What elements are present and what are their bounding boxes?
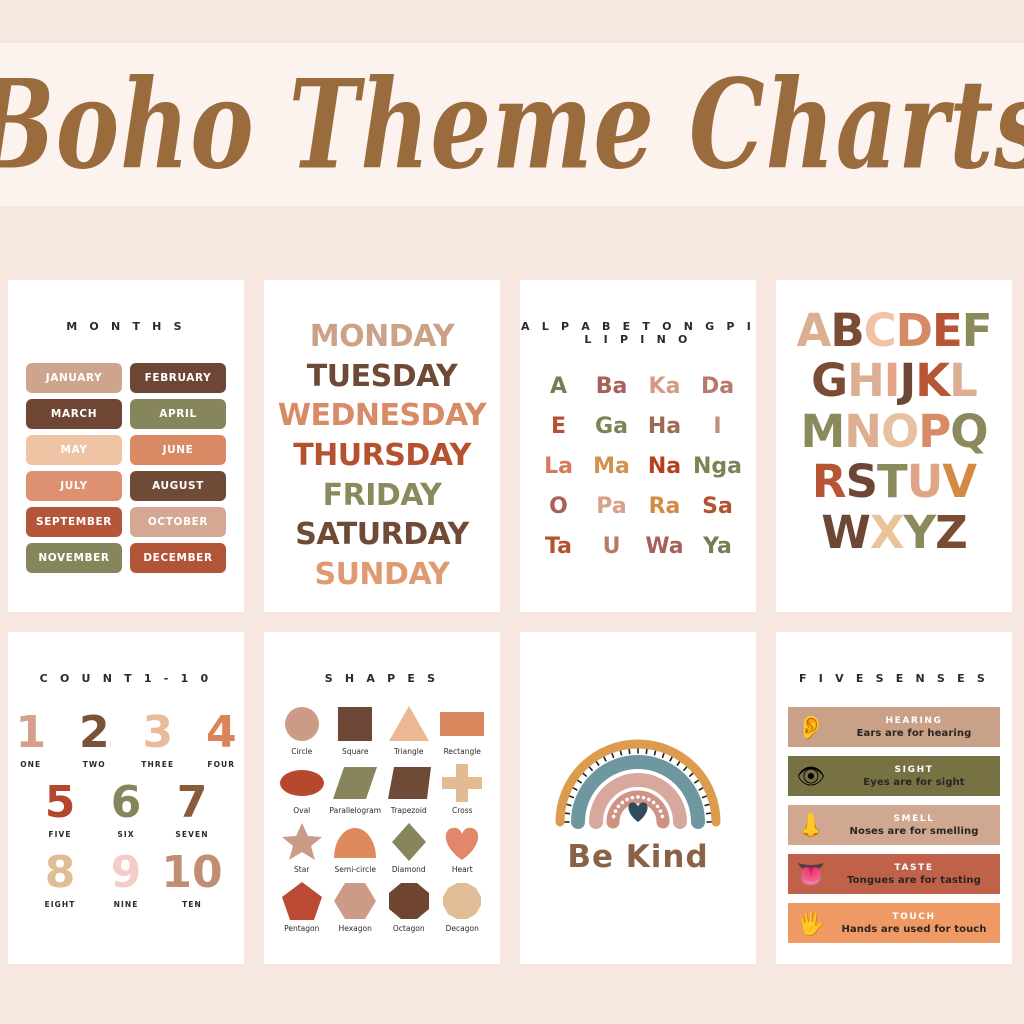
card-days-of-week[interactable]: MONDAYTUESDAYWEDNESDAYTHURSDAYFRIDAYSATU… bbox=[264, 280, 500, 612]
months-list: JANUARYFEBRUARYMARCHAPRILMAYJUNEJULYAUGU… bbox=[26, 363, 226, 573]
sense-description: Hands are used for touch bbox=[841, 924, 986, 935]
shape-item: Semi-circle bbox=[329, 821, 381, 874]
rainbow-svg bbox=[550, 722, 726, 832]
shape-label: Rectangle bbox=[444, 747, 481, 756]
alphabet-letter: G bbox=[811, 356, 847, 406]
hexagon-icon bbox=[331, 880, 379, 922]
sense-texts: SMELLNoses are for smelling bbox=[834, 814, 1000, 837]
charts-grid: M O N T H S JANUARYFEBRUARYMARCHAPRILMAY… bbox=[8, 280, 1016, 964]
ear-icon: 👂 bbox=[788, 716, 834, 739]
cross-icon bbox=[438, 762, 486, 804]
alphabet-rows: ABCDEFGHIJKLMNOPQRSTUVWXYZ bbox=[776, 306, 1012, 558]
circle-icon bbox=[278, 703, 326, 745]
card-alpabetong-pilipino[interactable]: A L P A B E T O N G P I L I P I N O ABaK… bbox=[520, 280, 756, 612]
card-months[interactable]: M O N T H S JANUARYFEBRUARYMARCHAPRILMAY… bbox=[8, 280, 244, 612]
sense-title: TASTE bbox=[894, 863, 933, 873]
count-word: FIVE bbox=[48, 830, 71, 839]
shapes-grid: CircleSquareTriangleRectangleOvalParalle… bbox=[275, 703, 489, 933]
alphabet-row: ABCDEF bbox=[796, 306, 991, 356]
count-item: 7SEVEN bbox=[168, 781, 216, 839]
pilipino-letter: Na bbox=[648, 454, 681, 479]
shape-label: Trapezoid bbox=[391, 806, 427, 815]
pilipino-letter: Nga bbox=[693, 454, 742, 479]
sense-texts: TASTETongues are for tasting bbox=[834, 863, 1000, 886]
rainbow-icon bbox=[550, 722, 726, 837]
alphabet-letter: E bbox=[932, 306, 962, 356]
be-kind-content: Be Kind bbox=[520, 632, 756, 964]
senses-card-title: F I V E S E N S E S bbox=[776, 672, 1012, 685]
page-title: Boho Theme Charts bbox=[0, 52, 1024, 197]
months-card-title: M O N T H S bbox=[8, 320, 244, 333]
month-pill[interactable]: MAY bbox=[26, 435, 122, 465]
sense-title: SIGHT bbox=[895, 765, 934, 775]
shape-item: Pentagon bbox=[276, 880, 328, 933]
alphabet-letter: N bbox=[844, 407, 881, 457]
count-word: NINE bbox=[114, 900, 139, 909]
pilipino-letter: Da bbox=[701, 374, 734, 399]
count-item: 10TEN bbox=[168, 851, 216, 909]
pilipino-letter: Ba bbox=[596, 374, 628, 399]
shape-label: Diamond bbox=[392, 865, 426, 874]
alphabet-letter: A bbox=[796, 306, 830, 356]
count-item: 9NINE bbox=[102, 851, 150, 909]
pilipino-letter: A bbox=[550, 374, 567, 399]
pilipino-card-title: A L P A B E T O N G P I L I P I N O bbox=[520, 320, 756, 346]
shape-label: Triangle bbox=[394, 747, 423, 756]
count-item: 6SIX bbox=[102, 781, 150, 839]
pilipino-letter: Wa bbox=[645, 534, 683, 559]
count-rows: 1ONE2TWO3THREE4FOUR5FIVE6SIX7SEVEN8EIGHT… bbox=[8, 711, 244, 909]
nose-icon: 👃 bbox=[788, 814, 834, 837]
alphabet-letter: W bbox=[821, 508, 870, 558]
shape-item: Star bbox=[276, 821, 328, 874]
pilipino-letter: E bbox=[551, 414, 566, 439]
card-five-senses[interactable]: F I V E S E N S E S 👂HEARINGEars are for… bbox=[776, 632, 1012, 964]
alphabet-letter: Y bbox=[904, 508, 936, 558]
tongue-icon: 👅 bbox=[788, 863, 834, 886]
pilipino-letter: Ta bbox=[545, 534, 572, 559]
count-numeral: 10 bbox=[161, 851, 222, 895]
senses-list: 👂HEARINGEars are for hearing👁SIGHTEyes a… bbox=[788, 707, 1000, 943]
shape-label: Heart bbox=[452, 865, 473, 874]
shape-item: Cross bbox=[436, 762, 488, 815]
month-pill[interactable]: JANUARY bbox=[26, 363, 122, 393]
shape-item: Oval bbox=[276, 762, 328, 815]
sense-band[interactable]: 🖐TOUCHHands are used for touch bbox=[788, 903, 1000, 943]
pilipino-letter: Ha bbox=[648, 414, 681, 439]
alphabet-letter: Z bbox=[935, 508, 967, 558]
sense-band[interactable]: 👅TASTETongues are for tasting bbox=[788, 854, 1000, 894]
sense-description: Ears are for hearing bbox=[857, 728, 972, 739]
alphabet-letter: L bbox=[949, 356, 977, 406]
month-pill[interactable]: JUNE bbox=[130, 435, 226, 465]
card-shapes[interactable]: S H A P E S CircleSquareTriangleRectangl… bbox=[264, 632, 500, 964]
month-pill[interactable]: NOVEMBER bbox=[26, 543, 122, 573]
shape-item: Heart bbox=[436, 821, 488, 874]
sense-texts: TOUCHHands are used for touch bbox=[834, 912, 1000, 935]
pilipino-letter: U bbox=[603, 534, 621, 559]
count-word: THREE bbox=[141, 760, 174, 769]
count-row: 8EIGHT9NINE10TEN bbox=[8, 851, 244, 909]
month-pill[interactable]: AUGUST bbox=[130, 471, 226, 501]
pilipino-letter: Sa bbox=[702, 494, 733, 519]
pilipino-letter: Ka bbox=[649, 374, 681, 399]
shape-label: Square bbox=[342, 747, 368, 756]
sense-description: Tongues are for tasting bbox=[847, 875, 981, 886]
shape-item: Decagon bbox=[436, 880, 488, 933]
day-label: MONDAY bbox=[310, 318, 454, 357]
month-pill[interactable]: FEBRUARY bbox=[130, 363, 226, 393]
count-numeral: 4 bbox=[206, 711, 237, 755]
shape-item: Parallelogram bbox=[329, 762, 381, 815]
shape-label: Circle bbox=[291, 747, 312, 756]
shape-label: Pentagon bbox=[284, 924, 319, 933]
triangle-icon bbox=[385, 703, 433, 745]
be-kind-text: Be Kind bbox=[567, 839, 708, 875]
alphabet-letter: U bbox=[907, 457, 943, 507]
day-label: SATURDAY bbox=[295, 516, 468, 555]
count-item: 5FIVE bbox=[36, 781, 84, 839]
alphabet-letter: H bbox=[847, 356, 884, 406]
alphabet-letter: O bbox=[881, 407, 918, 457]
alphabet-row: MNOPQ bbox=[801, 407, 988, 457]
oval-icon bbox=[278, 762, 326, 804]
month-pill[interactable]: APRIL bbox=[130, 399, 226, 429]
title-band: Boho Theme Charts bbox=[0, 43, 1024, 206]
sense-texts: SIGHTEyes are for sight bbox=[834, 765, 1000, 788]
pilipino-letter: Pa bbox=[596, 494, 626, 519]
count-word: SIX bbox=[117, 830, 134, 839]
count-item: 1ONE bbox=[8, 711, 54, 769]
alphabet-letter: V bbox=[942, 457, 976, 507]
count-word: TEN bbox=[182, 900, 202, 909]
alphabet-letter: C bbox=[864, 306, 896, 356]
sense-texts: HEARINGEars are for hearing bbox=[834, 716, 1000, 739]
alphabet-letter: K bbox=[915, 356, 949, 406]
card-be-kind[interactable]: Be Kind bbox=[520, 632, 756, 964]
shape-label: Semi-circle bbox=[335, 865, 376, 874]
shape-item: Trapezoid bbox=[383, 762, 435, 815]
count-numeral: 5 bbox=[45, 781, 76, 825]
sense-band[interactable]: 👂HEARINGEars are for hearing bbox=[788, 707, 1000, 747]
decagon-icon bbox=[438, 880, 486, 922]
sense-description: Eyes are for sight bbox=[863, 777, 964, 788]
month-pill[interactable]: OCTOBER bbox=[130, 507, 226, 537]
alphabet-row: WXYZ bbox=[821, 508, 967, 558]
shape-label: Hexagon bbox=[339, 924, 372, 933]
count-numeral: 3 bbox=[142, 711, 173, 755]
semicircle-icon bbox=[331, 821, 379, 863]
alphabet-letter: P bbox=[918, 407, 950, 457]
shape-item: Diamond bbox=[383, 821, 435, 874]
pilipino-letter: I bbox=[713, 414, 721, 439]
shape-item: Circle bbox=[276, 703, 328, 756]
hand-icon: 🖐 bbox=[788, 912, 834, 935]
card-count[interactable]: C O U N T 1 - 1 0 1ONE2TWO3THREE4FOUR5FI… bbox=[8, 632, 244, 964]
star-icon bbox=[278, 821, 326, 863]
shape-item: Square bbox=[329, 703, 381, 756]
shape-label: Star bbox=[294, 865, 309, 874]
shape-item: Hexagon bbox=[329, 880, 381, 933]
heart-icon bbox=[438, 821, 486, 863]
parallelogram-icon bbox=[331, 762, 379, 804]
count-item: 8EIGHT bbox=[36, 851, 84, 909]
alphabet-letter: D bbox=[896, 306, 932, 356]
shape-label: Oval bbox=[293, 806, 310, 815]
count-item: 4FOUR bbox=[199, 711, 245, 769]
count-word: TWO bbox=[83, 760, 106, 769]
sense-title: HEARING bbox=[885, 716, 942, 726]
alphabet-letter: Q bbox=[950, 407, 987, 457]
rectangle-icon bbox=[438, 703, 486, 745]
square-icon bbox=[331, 703, 379, 745]
alphabet-letter: B bbox=[830, 306, 863, 356]
count-numeral: 8 bbox=[45, 851, 76, 895]
alphabet-letter: R bbox=[812, 457, 846, 507]
pilipino-letter-grid: ABaKaDaEGaHaILaMaNaNgaOPaRaSaTaUWaYa bbox=[532, 374, 744, 559]
pilipino-letter: La bbox=[544, 454, 573, 479]
eye-icon: 👁 bbox=[788, 765, 834, 788]
alphabet-letter: I bbox=[884, 356, 900, 406]
month-pill[interactable]: DECEMBER bbox=[130, 543, 226, 573]
count-word: SEVEN bbox=[175, 830, 208, 839]
trapezoid-icon bbox=[385, 762, 433, 804]
day-label: WEDNESDAY bbox=[278, 397, 486, 436]
sense-band[interactable]: 👁SIGHTEyes are for sight bbox=[788, 756, 1000, 796]
month-pill[interactable]: MARCH bbox=[26, 399, 122, 429]
alphabet-letter: X bbox=[870, 508, 904, 558]
card-alphabet[interactable]: ABCDEFGHIJKLMNOPQRSTUVWXYZ bbox=[776, 280, 1012, 612]
alphabet-letter: J bbox=[900, 356, 916, 406]
count-item: 2TWO bbox=[72, 711, 118, 769]
pentagon-icon bbox=[278, 880, 326, 922]
alphabet-letter: F bbox=[962, 306, 992, 356]
days-list: MONDAYTUESDAYWEDNESDAYTHURSDAYFRIDAYSATU… bbox=[264, 318, 500, 595]
shape-label: Octagon bbox=[393, 924, 425, 933]
pilipino-letter: Ya bbox=[703, 534, 732, 559]
shape-label: Parallelogram bbox=[329, 806, 381, 815]
shape-item: Triangle bbox=[383, 703, 435, 756]
count-word: EIGHT bbox=[45, 900, 76, 909]
alphabet-letter: S bbox=[846, 457, 877, 507]
count-word: FOUR bbox=[207, 760, 235, 769]
day-label: TUESDAY bbox=[307, 358, 457, 397]
alphabet-letter: M bbox=[801, 407, 845, 457]
count-numeral: 2 bbox=[79, 711, 110, 755]
count-numeral: 9 bbox=[111, 851, 142, 895]
pilipino-letter: Ra bbox=[649, 494, 681, 519]
sense-title: TOUCH bbox=[892, 912, 935, 922]
pilipino-letter: Ma bbox=[593, 454, 630, 479]
diamond-icon bbox=[385, 821, 433, 863]
month-pill[interactable]: JULY bbox=[26, 471, 122, 501]
count-numeral: 1 bbox=[15, 711, 46, 755]
shape-item: Octagon bbox=[383, 880, 435, 933]
pilipino-letter: O bbox=[549, 494, 568, 519]
count-numeral: 7 bbox=[177, 781, 208, 825]
month-pill[interactable]: SEPTEMBER bbox=[26, 507, 122, 537]
count-numeral: 6 bbox=[111, 781, 142, 825]
alphabet-row: GHIJKL bbox=[811, 356, 977, 406]
heart-icon bbox=[628, 802, 647, 822]
shape-item: Rectangle bbox=[436, 703, 488, 756]
poster-page: Boho Theme Charts M O N T H S JANUARYFEB… bbox=[0, 0, 1024, 1024]
day-label: SUNDAY bbox=[314, 556, 449, 595]
octagon-icon bbox=[385, 880, 433, 922]
shapes-card-title: S H A P E S bbox=[264, 672, 500, 685]
shape-label: Decagon bbox=[446, 924, 479, 933]
sense-band[interactable]: 👃SMELLNoses are for smelling bbox=[788, 805, 1000, 845]
count-row: 1ONE2TWO3THREE4FOUR bbox=[8, 711, 244, 769]
count-item: 3THREE bbox=[135, 711, 181, 769]
day-label: FRIDAY bbox=[323, 477, 442, 516]
count-card-title: C O U N T 1 - 1 0 bbox=[8, 672, 244, 685]
sense-title: SMELL bbox=[893, 814, 934, 824]
count-row: 5FIVE6SIX7SEVEN bbox=[8, 781, 244, 839]
alphabet-letter: T bbox=[877, 457, 907, 507]
alphabet-row: RSTUV bbox=[812, 457, 976, 507]
pilipino-letter: Ga bbox=[595, 414, 628, 439]
shape-label: Cross bbox=[452, 806, 473, 815]
count-word: ONE bbox=[20, 760, 41, 769]
day-label: THURSDAY bbox=[293, 437, 471, 476]
sense-description: Noses are for smelling bbox=[850, 826, 979, 837]
